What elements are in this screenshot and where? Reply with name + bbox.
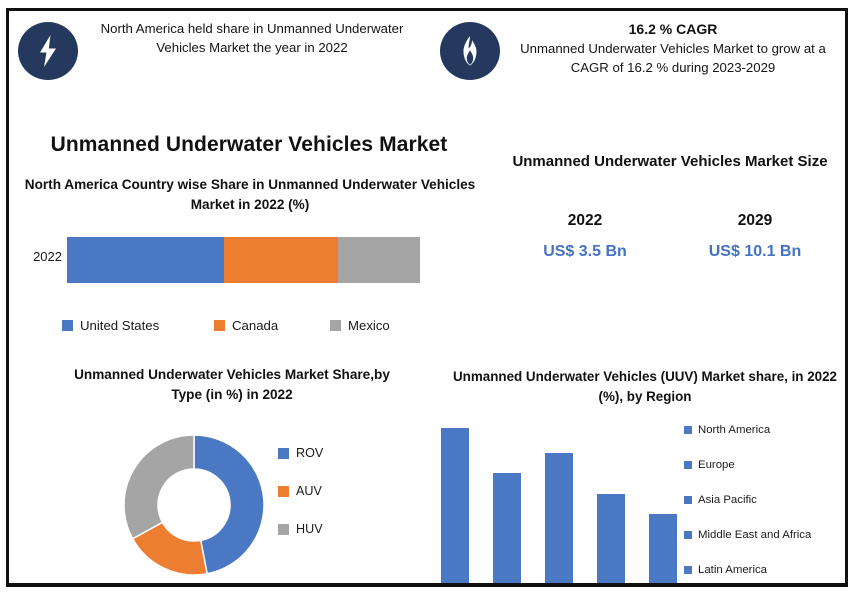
callout-north-america-share: North America held share in Unmanned Und… <box>18 20 418 80</box>
stacked-bar-segment-united-states <box>67 237 224 283</box>
region-bar-north-america <box>441 428 469 583</box>
stacked-bar-chart-title: North America Country wise Share in Unma… <box>20 175 480 216</box>
market-size-title: Unmanned Underwater Vehicles Market Size <box>500 150 840 173</box>
legend-swatch-north-america <box>684 426 692 434</box>
legend-item-united-states: United States <box>62 318 214 333</box>
legend-swatch-latin-america <box>684 566 692 574</box>
region-bar-chart-title: Unmanned Underwater Vehicles (UUV) Marke… <box>450 367 840 407</box>
region-bar-asia-pacific <box>545 453 573 583</box>
frame-border-right <box>845 8 848 586</box>
legend-swatch-europe <box>684 461 692 469</box>
market-size-value-2022: US$ 3.5 Bn <box>500 243 670 261</box>
stacked-bar-segment-canada <box>224 237 338 283</box>
market-size-col-2022: 2022 US$ 3.5 Bn <box>500 212 670 261</box>
flame-icon <box>440 22 500 80</box>
frame-border-top <box>6 8 848 11</box>
legend-item-canada: Canada <box>214 318 330 333</box>
cagr-headline: 16.2 % CAGR <box>514 20 832 40</box>
legend-label-middle-east-and-africa: Middle East and Africa <box>698 529 811 541</box>
legend-item-rov: ROV <box>278 446 323 460</box>
legend-label-europe: Europe <box>698 459 735 471</box>
legend-swatch-huv <box>278 524 289 535</box>
page-title: Unmanned Underwater Vehicles Market <box>14 133 484 157</box>
legend-label-latin-america: Latin America <box>698 564 767 576</box>
legend-swatch-auv <box>278 486 289 497</box>
frame-border-left <box>6 8 9 586</box>
donut-chart <box>122 433 266 577</box>
callout-text-2: 16.2 % CAGR Unmanned Underwater Vehicles… <box>500 20 838 77</box>
region-bar-middle-east-and-africa <box>597 494 625 584</box>
callout-cagr: 16.2 % CAGR Unmanned Underwater Vehicles… <box>440 20 838 80</box>
legend-label-auv: AUV <box>296 484 322 498</box>
legend-item-auv: AUV <box>278 484 323 498</box>
legend-label-asia-pacific: Asia Pacific <box>698 494 757 506</box>
legend-label-united-states: United States <box>80 318 159 333</box>
legend-item-north-america: North America <box>684 424 811 436</box>
legend-item-mexico: Mexico <box>330 318 390 333</box>
legend-item-europe: Europe <box>684 459 811 471</box>
market-size-year-2022: 2022 <box>500 212 670 230</box>
legend-label-canada: Canada <box>232 318 278 333</box>
legend-swatch-canada <box>214 320 225 331</box>
region-bar-latin-america <box>649 514 677 583</box>
legend-label-rov: ROV <box>296 446 323 460</box>
legend-swatch-asia-pacific <box>684 496 692 504</box>
legend-label-north-america: North America <box>698 424 770 436</box>
region-bar-chart-legend: North America Europe Asia Pacific Middle… <box>684 424 811 594</box>
region-bar-chart-plot <box>437 425 673 583</box>
donut-chart-title: Unmanned Underwater Vehicles Market Shar… <box>62 365 402 406</box>
legend-item-latin-america: Latin America <box>684 564 811 576</box>
legend-item-middle-east-and-africa: Middle East and Africa <box>684 529 811 541</box>
callout-text-1: North America held share in Unmanned Und… <box>78 20 418 57</box>
legend-swatch-united-states <box>62 320 73 331</box>
infographic-canvas: North America held share in Unmanned Und… <box>0 0 854 594</box>
legend-item-asia-pacific: Asia Pacific <box>684 494 811 506</box>
donut-chart-legend: ROV AUV HUV <box>278 446 323 560</box>
market-size-col-2029: 2029 US$ 10.1 Bn <box>670 212 840 261</box>
stacked-bar-category-label: 2022 <box>14 249 62 264</box>
legend-label-mexico: Mexico <box>348 318 390 333</box>
lightning-bolt-icon <box>18 22 78 80</box>
legend-swatch-rov <box>278 448 289 459</box>
market-size-values: 2022 US$ 3.5 Bn 2029 US$ 10.1 Bn <box>500 212 840 261</box>
market-size-year-2029: 2029 <box>670 212 840 230</box>
stacked-bar-track <box>67 237 420 283</box>
region-bar-europe <box>493 473 521 583</box>
legend-swatch-mexico <box>330 320 341 331</box>
legend-item-huv: HUV <box>278 522 323 536</box>
stacked-bar-legend: United States Canada Mexico <box>62 318 462 333</box>
stacked-bar-segment-mexico <box>338 237 420 283</box>
market-size-value-2029: US$ 10.1 Bn <box>670 243 840 261</box>
legend-label-huv: HUV <box>296 522 323 536</box>
cagr-description: Unmanned Underwater Vehicles Market to g… <box>520 41 826 75</box>
legend-swatch-middle-east-and-africa <box>684 531 692 539</box>
